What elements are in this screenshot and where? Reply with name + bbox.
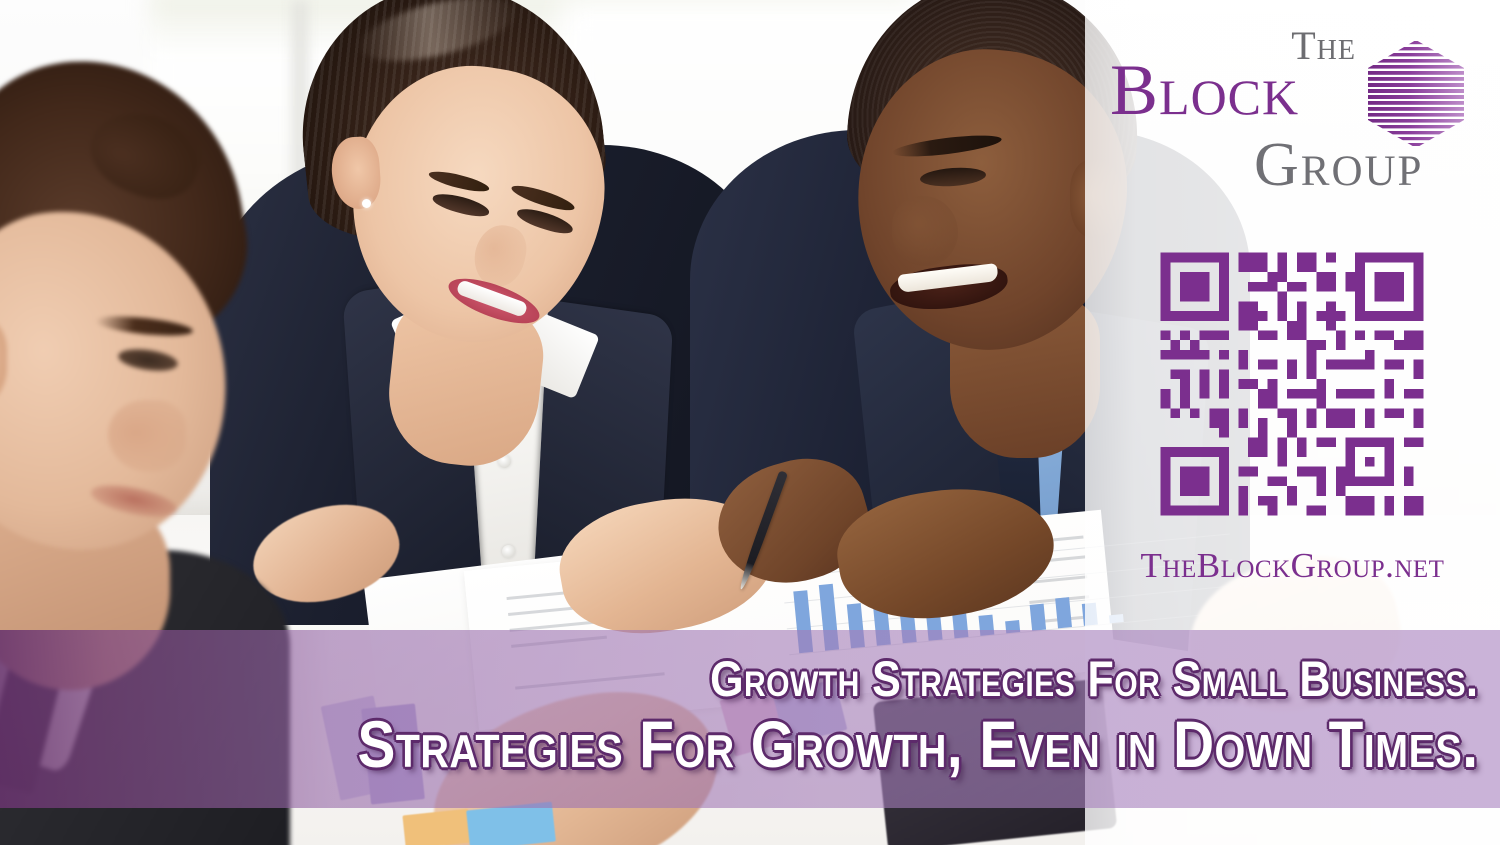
blouse-button-2 bbox=[502, 545, 515, 558]
headline-line-2: Strategies For Growth, Even in Down Time… bbox=[357, 706, 1478, 782]
logo-word-the: The bbox=[1291, 26, 1356, 66]
striped-hexagon-diamond-icon bbox=[1358, 38, 1474, 150]
chart-bar bbox=[1055, 597, 1072, 628]
headline-banner: Growth Strategies For Small Business. St… bbox=[0, 630, 1500, 808]
banner-stage: The Block Group bbox=[0, 0, 1500, 845]
headline-line-1: Growth Strategies For Small Business. bbox=[710, 650, 1478, 708]
logo-word-block: Block bbox=[1110, 54, 1299, 126]
website-url[interactable]: TheBlockGroup.net bbox=[1085, 548, 1500, 583]
color-swatch-4 bbox=[466, 802, 556, 845]
chart-bar bbox=[1030, 604, 1046, 631]
color-swatch-3 bbox=[402, 809, 471, 845]
brand-logo[interactable]: The Block Group bbox=[1096, 24, 1486, 204]
qr-code[interactable] bbox=[1151, 243, 1433, 525]
man-left-nose bbox=[108, 400, 186, 472]
man-right-nose bbox=[892, 196, 958, 266]
